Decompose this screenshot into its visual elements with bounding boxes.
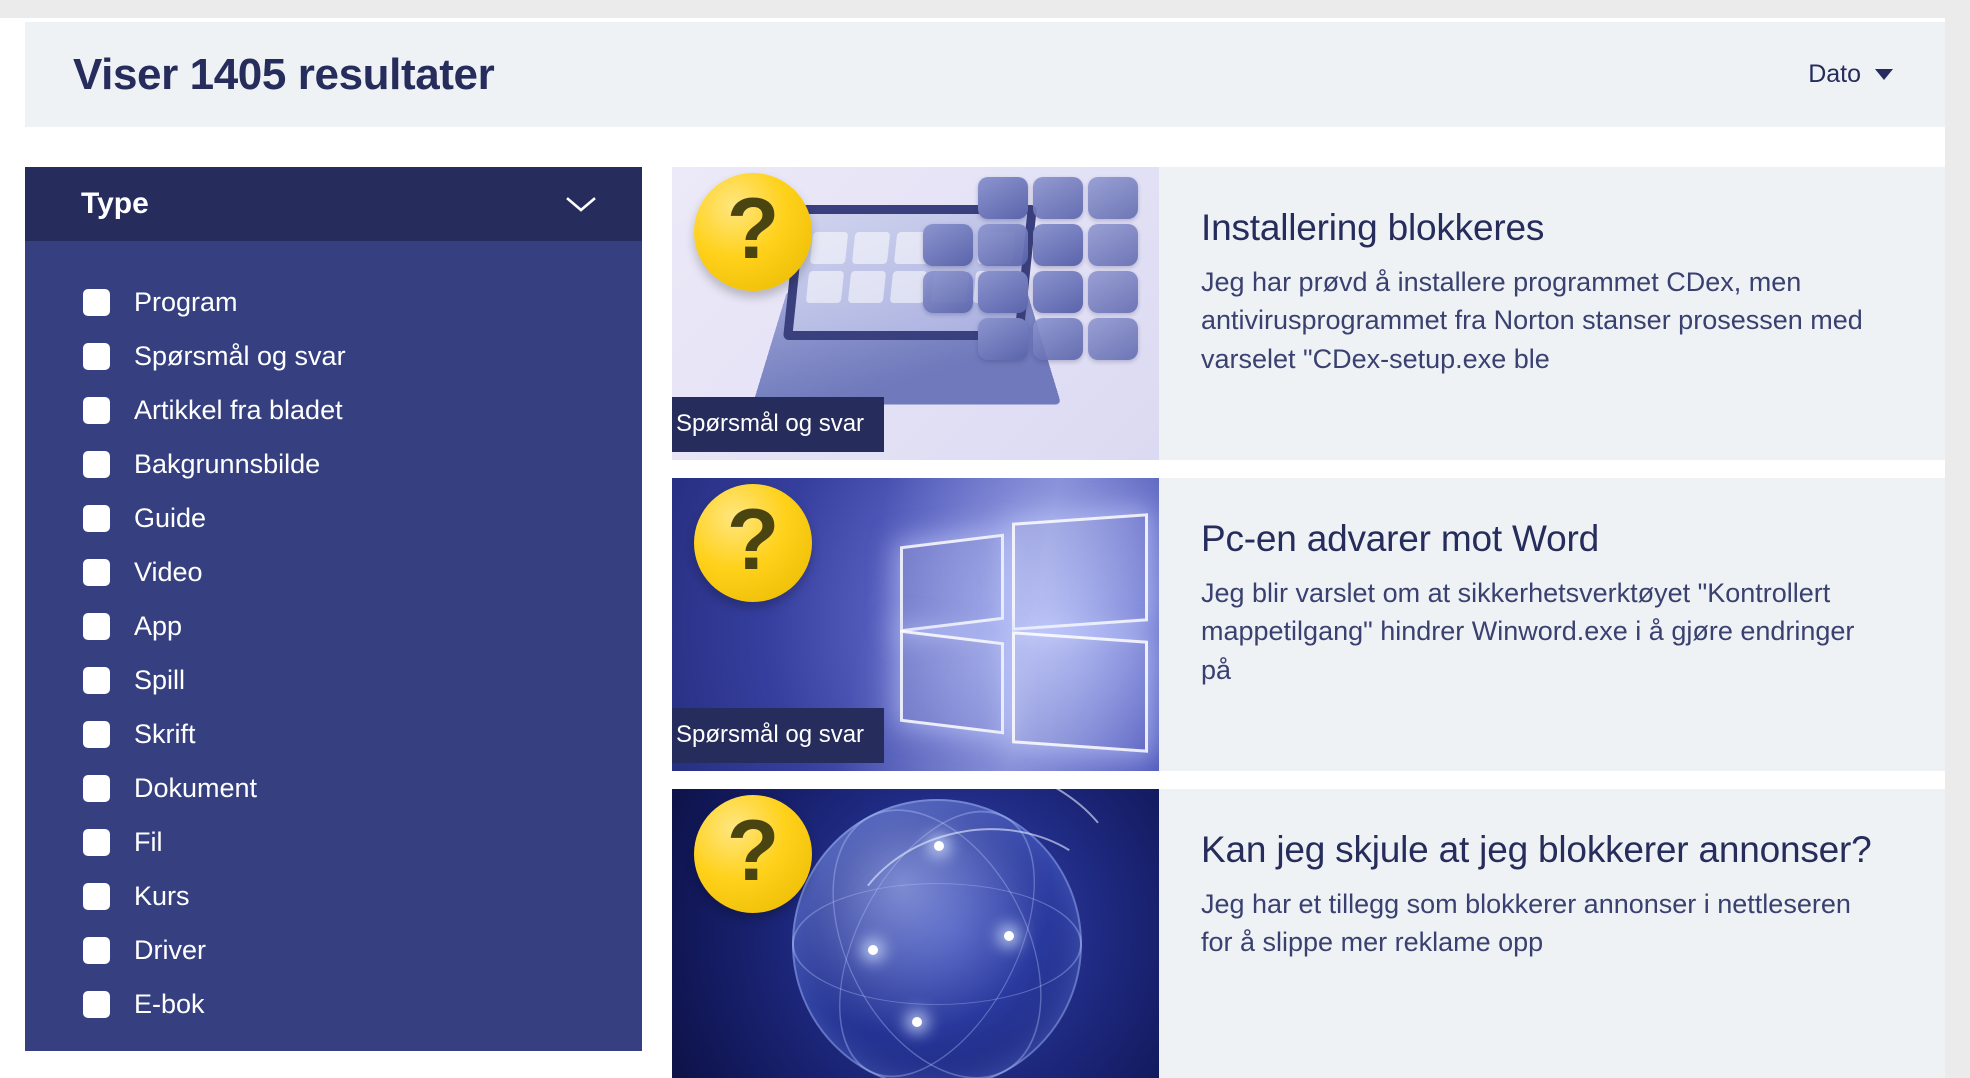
question-mark-badge: ? [694,795,812,913]
facet-sidebar: Type Program Spørsmål og svar Artikkel f… [25,167,642,1051]
facet-option-label: Program [134,289,238,316]
sort-dropdown[interactable]: Dato [1804,54,1897,95]
facet-option-label: Skrift [134,721,196,748]
facet-option-guide[interactable]: Guide [25,491,642,545]
facet-option-label: Dokument [134,775,257,802]
page-right-edge [1945,0,1970,1078]
facet-option-label: App [134,613,182,640]
facet-options-list: Program Spørsmål og svar Artikkel fra bl… [25,241,642,1051]
facet-type-title: Type [81,187,149,221]
facet-option-label: Spill [134,667,185,694]
results-header: Viser 1405 resultater Dato [25,22,1945,127]
results-list: ? Spørsmål og svar Installering blokkere… [672,167,1945,1078]
result-thumbnail: ? Spørsmål og svar [672,167,1159,460]
facet-option-bakgrunnsbilde[interactable]: Bakgrunnsbilde [25,437,642,491]
chevron-down-icon [1875,69,1893,80]
checkbox-icon[interactable] [83,721,110,748]
result-card[interactable]: ? Spørsmål og svar Pc-en advarer mot Wor… [672,478,1945,771]
chevron-down-icon [560,192,602,216]
result-title[interactable]: Kan jeg skjule at jeg blokkerer annonser… [1201,829,1885,872]
facet-type-header[interactable]: Type [25,167,642,241]
result-text: Kan jeg skjule at jeg blokkerer annonser… [1159,789,1945,1078]
facet-option-label: Fil [134,829,163,856]
checkbox-icon[interactable] [83,289,110,316]
facet-option-label: Driver [134,937,206,964]
facet-option-app[interactable]: App [25,599,642,653]
result-title[interactable]: Installering blokkeres [1201,207,1885,250]
checkbox-icon[interactable] [83,883,110,910]
question-mark-badge: ? [694,173,812,291]
facet-option-fil[interactable]: Fil [25,815,642,869]
result-thumbnail: ? [672,789,1159,1078]
checkbox-icon[interactable] [83,613,110,640]
facet-option-spill[interactable]: Spill [25,653,642,707]
checkbox-icon[interactable] [83,397,110,424]
result-thumbnail: ? Spørsmål og svar [672,478,1159,771]
search-results-page: Viser 1405 resultater Dato Type Program [0,0,1970,1078]
facet-option-kurs[interactable]: Kurs [25,869,642,923]
facet-option-dokument[interactable]: Dokument [25,761,642,815]
checkbox-icon[interactable] [83,937,110,964]
question-mark-glyph: ? [727,186,780,272]
facet-option-label: Spørsmål og svar [134,343,346,370]
facet-option-artikkel-fra-bladet[interactable]: Artikkel fra bladet [25,383,642,437]
result-card[interactable]: ? Spørsmål og svar Installering blokkere… [672,167,1945,460]
checkbox-icon[interactable] [83,343,110,370]
result-title[interactable]: Pc-en advarer mot Word [1201,518,1885,561]
checkbox-icon[interactable] [83,667,110,694]
checkbox-icon[interactable] [83,991,110,1018]
result-excerpt: Jeg har prøvd å installere programmet CD… [1201,263,1885,378]
question-mark-badge: ? [694,484,812,602]
page-title: Viser 1405 resultater [73,50,494,100]
facet-option-video[interactable]: Video [25,545,642,599]
facet-option-e-bok[interactable]: E-bok [25,977,642,1031]
result-text: Installering blokkeres Jeg har prøvd å i… [1159,167,1945,460]
facet-option-label: Artikkel fra bladet [134,397,343,424]
result-excerpt: Jeg har et tillegg som blokkerer annonse… [1201,885,1885,962]
facet-option-label: Video [134,559,203,586]
facet-option-label: Guide [134,505,206,532]
result-card[interactable]: ? Kan jeg skjule at jeg blokkerer annons… [672,789,1945,1078]
result-type-tag: Spørsmål og svar [672,708,884,763]
question-mark-glyph: ? [727,497,780,583]
facet-option-skrift[interactable]: Skrift [25,707,642,761]
facet-option-label: Bakgrunnsbilde [134,451,320,478]
result-type-tag: Spørsmål og svar [672,397,884,452]
sort-dropdown-label: Dato [1808,60,1861,89]
facet-option-driver[interactable]: Driver [25,923,642,977]
result-excerpt: Jeg blir varslet om at sikkerhetsverktøy… [1201,574,1885,689]
checkbox-icon[interactable] [83,559,110,586]
checkbox-icon[interactable] [83,451,110,478]
question-mark-glyph: ? [727,808,780,894]
facet-option-program[interactable]: Program [25,275,642,329]
checkbox-icon[interactable] [83,505,110,532]
facet-option-label: Kurs [134,883,190,910]
content-area: Type Program Spørsmål og svar Artikkel f… [25,167,1945,1078]
facet-option-label: E-bok [134,991,205,1018]
result-text: Pc-en advarer mot Word Jeg blir varslet … [1159,478,1945,771]
checkbox-icon[interactable] [83,829,110,856]
checkbox-icon[interactable] [83,775,110,802]
page-top-edge [0,0,1970,18]
facet-option-sporsmal-og-svar[interactable]: Spørsmål og svar [25,329,642,383]
